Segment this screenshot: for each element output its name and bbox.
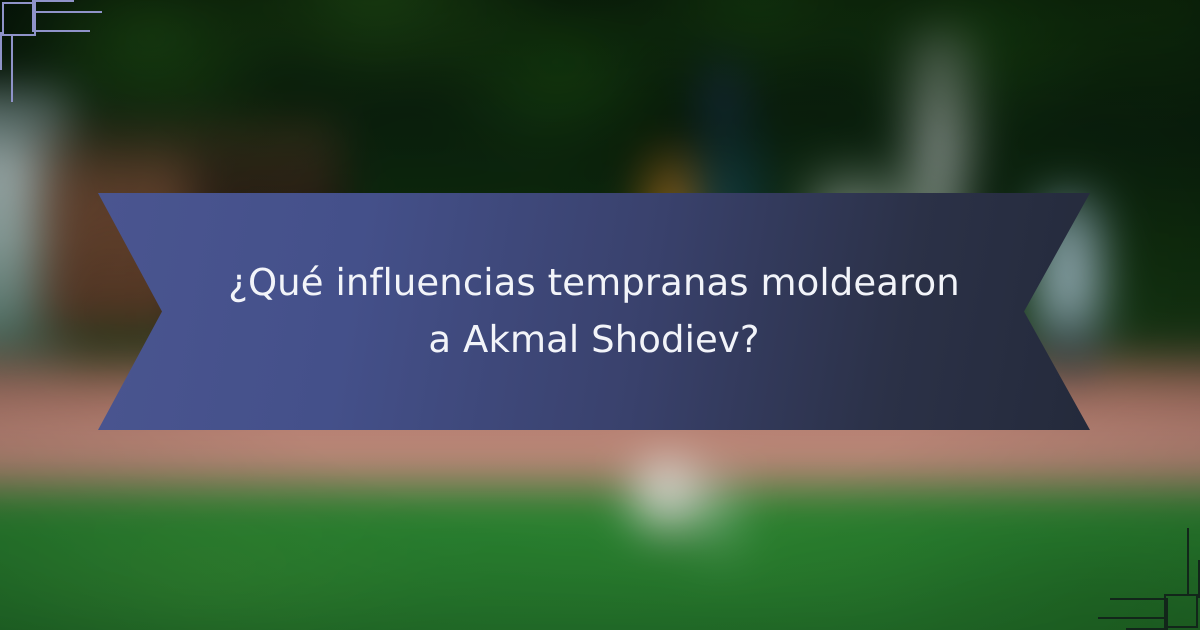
headline-banner: ¿Qué influencias tempranas moldearon a A…: [98, 193, 1090, 430]
page-title: ¿Qué influencias tempranas moldearon a A…: [214, 255, 974, 367]
soccer-ball-layer: [630, 458, 708, 536]
share-card-canvas: ¿Qué influencias tempranas moldearon a A…: [0, 0, 1200, 630]
track-line-layer: [0, 469, 1200, 475]
grass-pitch-layer: [0, 488, 1200, 630]
page-title-line-2: Akmal Shodiev?: [463, 318, 760, 361]
building-highlight-layer: [0, 143, 36, 338]
